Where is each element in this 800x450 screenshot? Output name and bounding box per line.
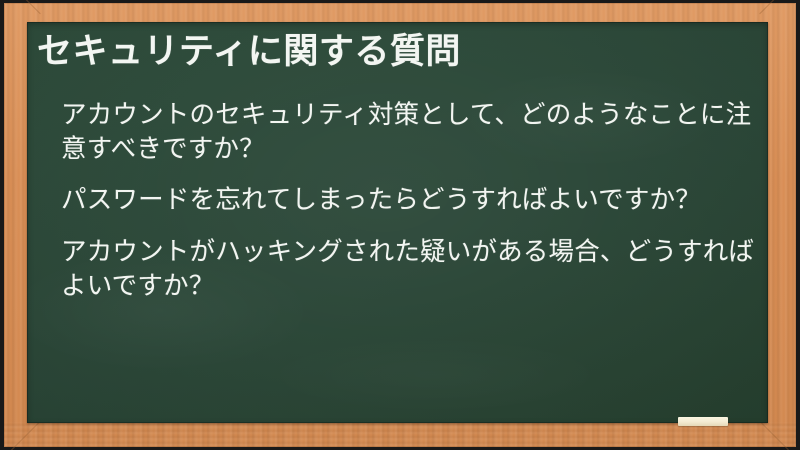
- slide-content: セキュリティに関する質問 アカウントのセキュリティ対策として、どのようなことに注…: [27, 22, 768, 423]
- chalkboard-surface: セキュリティに関する質問 アカウントのセキュリティ対策として、どのようなことに注…: [27, 22, 768, 423]
- list-item: アカウントがハッキングされた疑いがある場合、どうすればよいですか？: [61, 235, 758, 304]
- chalk-stick-icon: [678, 417, 728, 426]
- page-title: セキュリティに関する質問: [37, 30, 758, 76]
- list-item: パスワードを忘れてしまったらどうすればよいですか？: [61, 183, 758, 217]
- question-list: アカウントのセキュリティ対策として、どのようなことに注意すべきですか？ パスワー…: [35, 98, 758, 304]
- slide-canvas: セキュリティに関する質問 アカウントのセキュリティ対策として、どのようなことに注…: [0, 0, 800, 450]
- chalk-ledge: [4, 422, 796, 447]
- list-item: アカウントのセキュリティ対策として、どのようなことに注意すべきですか？: [61, 98, 758, 167]
